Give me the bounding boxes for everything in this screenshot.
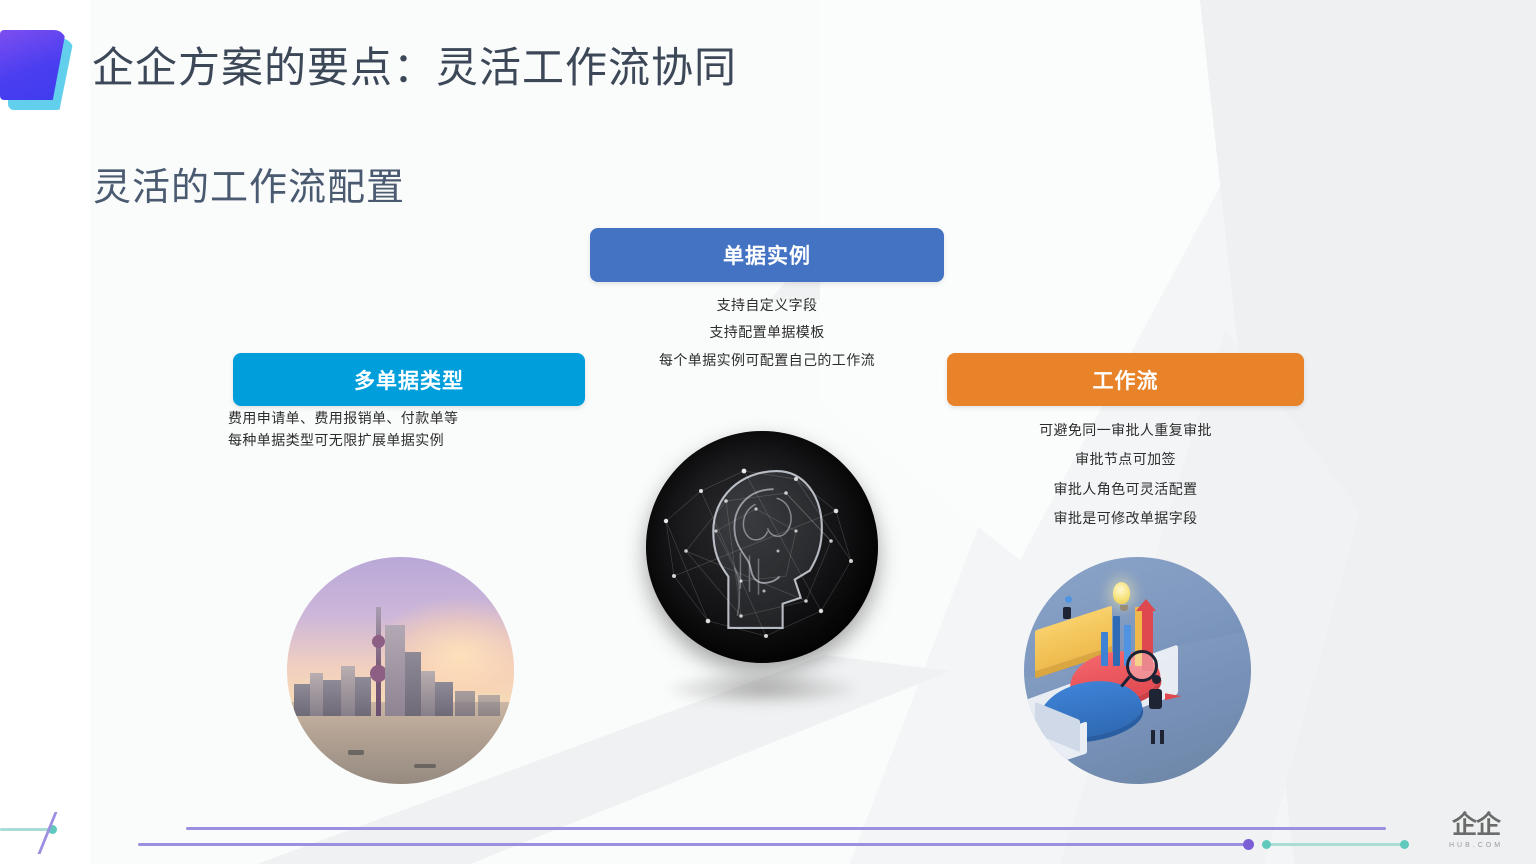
brand-logo-subtext: HUB.COM bbox=[1449, 842, 1503, 849]
panel-right-line-1: 可避免同一审批人重复审批 bbox=[947, 416, 1304, 445]
panel-description-right: 可避免同一审批人重复审批 审批节点可加签 审批人角色可灵活配置 审批是可修改单据… bbox=[947, 416, 1304, 534]
panel-right-line-2: 审批节点可加签 bbox=[947, 445, 1304, 474]
panel-center-line-3: 每个单据实例可配置自己的工作流 bbox=[590, 347, 944, 374]
building bbox=[455, 691, 475, 716]
footer-purple-dot bbox=[1243, 839, 1254, 850]
footer-purple-line-lower bbox=[138, 843, 1248, 846]
shanghai-tower bbox=[385, 625, 405, 716]
panel-left-line-1: 费用申请单、费用报销单、付款单等 bbox=[228, 408, 588, 430]
businessman-leg bbox=[1160, 730, 1164, 744]
bar-chart-bar bbox=[1113, 616, 1120, 666]
panel-description-left: 费用申请单、费用报销单、付款单等 每种单据类型可无限扩展单据实例 bbox=[228, 408, 588, 451]
slide-canvas: 企企方案的要点：灵活工作流协同 灵活的工作流配置 单据实例 支持自定义字段 支持… bbox=[0, 0, 1536, 864]
footer-cyan-line-left bbox=[0, 828, 52, 831]
small-figure bbox=[1063, 607, 1071, 619]
businessman-figure bbox=[1149, 689, 1162, 709]
boat bbox=[348, 750, 364, 755]
building bbox=[310, 673, 324, 716]
bar-chart-bar bbox=[1101, 632, 1108, 666]
lightbulb-base bbox=[1120, 605, 1128, 611]
brand-logo: 企企 HUB.COM bbox=[1443, 808, 1509, 854]
businessman-leg bbox=[1151, 730, 1155, 744]
building bbox=[355, 677, 371, 716]
building bbox=[421, 671, 435, 716]
neural-network-overlay bbox=[646, 431, 878, 663]
oriental-pearl-tower bbox=[376, 607, 381, 716]
panel-center-line-1: 支持自定义字段 bbox=[590, 292, 944, 319]
footer-cyan-line-right bbox=[1265, 843, 1405, 846]
neural-head-image bbox=[646, 431, 878, 663]
panel-right-line-3: 审批人角色可灵活配置 bbox=[947, 475, 1304, 504]
panel-center-line-2: 支持配置单据模板 bbox=[590, 319, 944, 346]
tower-sphere-upper bbox=[372, 635, 385, 648]
building bbox=[323, 680, 341, 716]
building bbox=[405, 652, 421, 716]
footer-cyan-dot-right-end bbox=[1400, 840, 1409, 849]
building bbox=[294, 684, 310, 716]
boat bbox=[414, 764, 436, 768]
page-title: 企企方案的要点：灵活工作流协同 bbox=[92, 34, 737, 95]
footer-cyan-dot-right-start bbox=[1262, 840, 1271, 849]
building bbox=[435, 682, 453, 716]
small-figure-head bbox=[1065, 596, 1072, 603]
panel-heading-right[interactable]: 工作流 bbox=[947, 353, 1304, 406]
brain-image-shadow bbox=[668, 672, 858, 706]
page-subtitle: 灵活的工作流配置 bbox=[93, 156, 405, 211]
building bbox=[341, 666, 355, 716]
panel-left-line-2: 每种单据类型可无限扩展单据实例 bbox=[228, 430, 588, 452]
building bbox=[478, 695, 501, 715]
panel-description-center: 支持自定义字段 支持配置单据模板 每个单据实例可配置自己的工作流 bbox=[590, 292, 944, 374]
growth-arrow-head bbox=[1136, 599, 1156, 611]
business-analytics-image bbox=[1024, 557, 1251, 784]
footer-purple-line-upper bbox=[186, 827, 1386, 830]
brand-logo-glyphs: 企企 bbox=[1452, 813, 1500, 838]
city-skyline-image bbox=[287, 557, 514, 784]
title-bullet-icon bbox=[0, 28, 76, 112]
lightbulb-icon bbox=[1113, 582, 1130, 604]
panel-right-line-4: 审批是可修改单据字段 bbox=[947, 504, 1304, 533]
panel-heading-center[interactable]: 单据实例 bbox=[590, 228, 944, 282]
panel-heading-left[interactable]: 多单据类型 bbox=[233, 353, 585, 406]
